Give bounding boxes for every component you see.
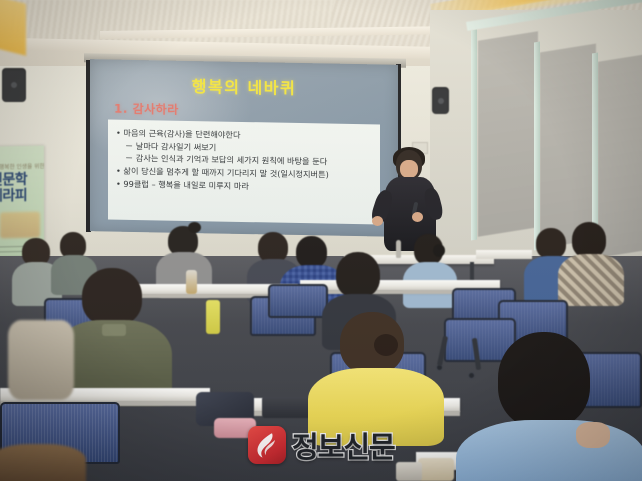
banner-illustration <box>0 212 40 239</box>
banner-small-headline: 행복한 인생을 위한 <box>0 161 44 171</box>
projector-stand-post <box>396 240 401 258</box>
small-cup <box>396 462 422 481</box>
attendee-foreground-hair <box>0 444 86 481</box>
projection-screen: 행복의 네바퀴 1. 감사하라 • 마음의 근육(감사)을 단련해야한다 － 날… <box>90 59 398 237</box>
lecture-hall-photo: 행복한 인생을 위한 인문학 테라피 행복의 네바퀴 1. 감사하라 • 마음의… <box>0 0 642 481</box>
attendee-hair-bun <box>374 334 398 356</box>
presenter-hand-right <box>412 212 423 222</box>
banner-big-headline: 인문학 테라피 <box>0 172 27 205</box>
presenter-face <box>400 160 418 178</box>
attendee-ear <box>576 422 610 448</box>
window-blind-2 <box>540 44 596 249</box>
window-mullion-1 <box>471 30 477 241</box>
window-blind-1 <box>478 31 538 237</box>
attendee-head <box>498 332 590 428</box>
attendee-foreground-shoulder <box>8 320 74 400</box>
attendee-torso <box>456 420 642 481</box>
attendee-hair-bun <box>433 244 445 257</box>
slide-subtitle: 1. 감사하라 <box>114 100 179 118</box>
attendee-head <box>296 236 327 268</box>
banner-headline-line2: 테라피 <box>0 188 27 205</box>
watermark-text: 정보신문 <box>292 424 395 466</box>
watermark: 정보신문 <box>248 424 395 466</box>
attendee-collar <box>102 324 126 336</box>
attendee-head <box>82 268 142 326</box>
chair-caster-2 <box>468 372 475 379</box>
front-desk-row-right <box>476 250 532 259</box>
cove-light-left <box>0 0 26 56</box>
paper-cup <box>418 458 454 481</box>
window-mullion-2 <box>534 42 540 251</box>
attendee-head <box>536 228 566 259</box>
wall-speaker-left <box>2 68 26 102</box>
attendee-head <box>572 222 606 258</box>
banner-headline-line1: 인문학 <box>0 172 27 189</box>
slide-body-panel: • 마음의 근육(감사)을 단련해야한다 － 날마다 감사일기 써보기 － 감사… <box>108 120 380 225</box>
attendee-torso-plaid <box>558 254 624 306</box>
attendee-hair-bun <box>188 222 201 233</box>
flame-brush-logo-icon <box>248 426 286 464</box>
window-blind-3 <box>598 54 642 258</box>
attendee-head <box>336 252 380 298</box>
yellow-tumbler <box>206 300 220 334</box>
chair-mid-3 <box>268 284 328 318</box>
presenter-hand-left <box>372 216 383 226</box>
wall-speaker-right <box>432 87 449 114</box>
water-bottle <box>186 270 197 294</box>
